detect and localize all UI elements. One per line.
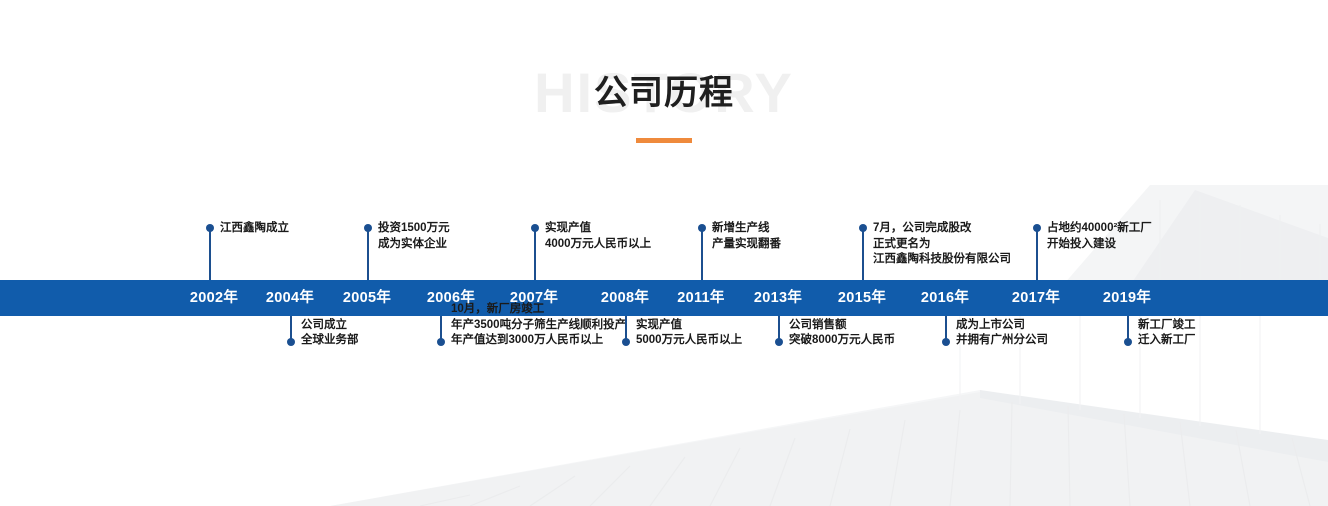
event-stem-line xyxy=(862,228,864,280)
event-description-line: 开始投入建设 xyxy=(1047,237,1152,253)
event-description-line: 正式更名为 xyxy=(873,237,1011,253)
event-description-line: 产量实现翻番 xyxy=(712,237,781,253)
timeline-year-2019[interactable]: 2019年 xyxy=(1103,280,1151,316)
event-description-line: 实现产值 xyxy=(545,221,651,237)
event-description-line: 江西鑫陶成立 xyxy=(220,221,289,237)
event-description: 占地约40000²新工厂开始投入建设 xyxy=(1047,221,1152,252)
event-description: 新增生产线产量实现翻番 xyxy=(712,221,781,252)
event-description: 7月，公司完成股改正式更名为江西鑫陶科技股份有限公司 xyxy=(873,221,1011,268)
event-marker-dot-icon xyxy=(531,224,539,232)
event-description-line: 成为实体企业 xyxy=(378,237,450,253)
timeline-year-2013[interactable]: 2013年 xyxy=(754,280,802,316)
event-marker-dot-icon xyxy=(206,224,214,232)
event-description-line: 公司销售额 xyxy=(789,318,895,334)
event-stem-line xyxy=(534,228,536,280)
timeline-year-2006[interactable]: 2006年 xyxy=(427,280,475,316)
event-marker-dot-icon xyxy=(1033,224,1041,232)
event-description-line: 江西鑫陶科技股份有限公司 xyxy=(873,252,1011,268)
event-stem-line xyxy=(367,228,369,280)
event-description-line: 年产3500吨分子筛生产线顺利投产 xyxy=(451,318,626,334)
event-marker-dot-icon xyxy=(622,338,630,346)
event-description: 公司成立全球业务部 xyxy=(301,318,359,349)
event-marker-dot-icon xyxy=(775,338,783,346)
event-description-line: 公司成立 xyxy=(301,318,359,334)
timeline-year-2015[interactable]: 2015年 xyxy=(838,280,886,316)
event-marker-dot-icon xyxy=(942,338,950,346)
title-stack: HISTORY 公司历程 xyxy=(594,62,734,124)
event-description-line: 投资1500万元 xyxy=(378,221,450,237)
event-description: 公司销售额突破8000万元人民币 xyxy=(789,318,895,349)
event-marker-dot-icon xyxy=(859,224,867,232)
timeline-year-2007[interactable]: 2007年 xyxy=(510,280,558,316)
event-description-line: 新工厂竣工 xyxy=(1138,318,1196,334)
event-description: 江西鑫陶成立 xyxy=(220,221,289,237)
event-description-line: 迁入新工厂 xyxy=(1138,333,1196,349)
event-description-line: 并拥有广州分公司 xyxy=(956,333,1048,349)
timeline-year-2017[interactable]: 2017年 xyxy=(1012,280,1060,316)
timeline-year-2002[interactable]: 2002年 xyxy=(190,280,238,316)
event-description: 成为上市公司并拥有广州分公司 xyxy=(956,318,1048,349)
title-underline-accent xyxy=(636,138,692,143)
event-description-line: 4000万元人民币以上 xyxy=(545,237,651,253)
event-marker-dot-icon xyxy=(287,338,295,346)
timeline-year-2011[interactable]: 2011年 xyxy=(677,280,724,316)
event-description-line: 全球业务部 xyxy=(301,333,359,349)
event-stem-line xyxy=(701,228,703,280)
event-description-line: 突破8000万元人民币 xyxy=(789,333,895,349)
event-stem-line xyxy=(1036,228,1038,280)
timeline-year-2005[interactable]: 2005年 xyxy=(343,280,391,316)
event-marker-dot-icon xyxy=(437,338,445,346)
page-title: 公司历程 xyxy=(594,62,734,124)
event-stem-line xyxy=(209,228,211,280)
event-marker-dot-icon xyxy=(364,224,372,232)
timeline-year-2004[interactable]: 2004年 xyxy=(266,280,314,316)
event-description-line: 实现产值 xyxy=(636,318,742,334)
timeline-year-2008[interactable]: 2008年 xyxy=(601,280,649,316)
event-description: 新工厂竣工迁入新工厂 xyxy=(1138,318,1196,349)
timeline-year-2016[interactable]: 2016年 xyxy=(921,280,969,316)
event-description-line: 占地约40000²新工厂 xyxy=(1047,221,1152,237)
page-header: HISTORY 公司历程 xyxy=(0,62,1328,124)
event-description: 实现产值5000万元人民币以上 xyxy=(636,318,742,349)
event-description: 实现产值4000万元人民币以上 xyxy=(545,221,651,252)
event-description-line: 成为上市公司 xyxy=(956,318,1048,334)
event-description: 投资1500万元成为实体企业 xyxy=(378,221,450,252)
event-marker-dot-icon xyxy=(698,224,706,232)
event-marker-dot-icon xyxy=(1124,338,1132,346)
event-description-line: 新增生产线 xyxy=(712,221,781,237)
event-description-line: 5000万元人民币以上 xyxy=(636,333,742,349)
event-description-line: 年产值达到3000万人民币以上 xyxy=(451,333,626,349)
event-description-line: 7月，公司完成股改 xyxy=(873,221,1011,237)
